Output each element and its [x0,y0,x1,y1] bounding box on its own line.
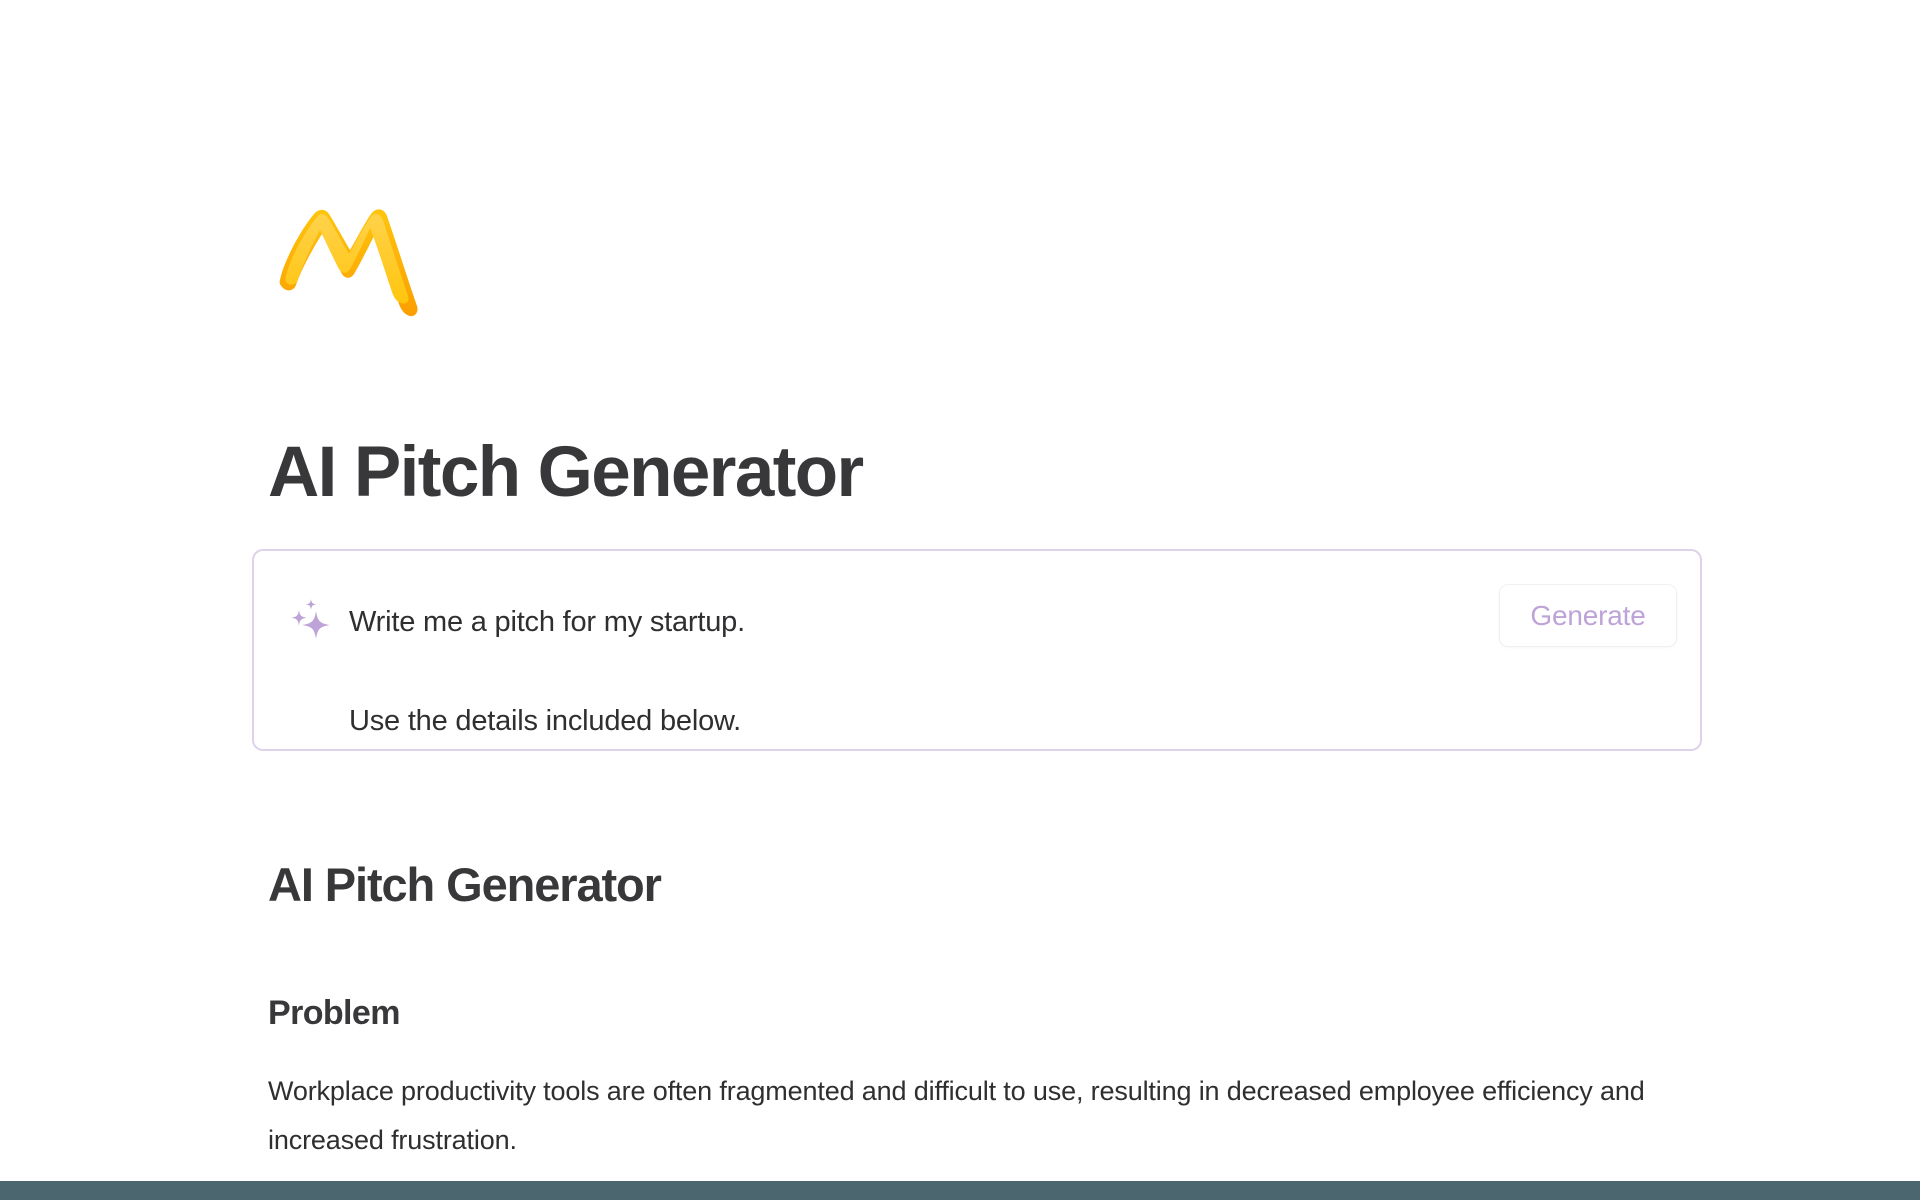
bottom-status-bar [0,1181,1920,1200]
section-body-problem: Workplace productivity tools are often f… [268,1067,1668,1165]
app-page: AI Pitch Generator Write me a pitch for … [0,0,1920,1200]
generate-button[interactable]: Generate [1499,584,1677,647]
prompt-text-line-2[interactable]: Use the details included below. [349,701,741,741]
section-heading-problem: Problem [268,992,400,1034]
sparkle-ai-icon [289,597,333,645]
marker-m-logo-icon [268,188,428,318]
document-title: AI Pitch Generator [268,857,661,913]
page-title: AI Pitch Generator [268,432,863,514]
ai-prompt-card[interactable]: Write me a pitch for my startup. Use the… [252,549,1702,751]
prompt-card-inner: Write me a pitch for my startup. Use the… [254,551,1700,749]
prompt-text-line-1[interactable]: Write me a pitch for my startup. [349,602,745,642]
